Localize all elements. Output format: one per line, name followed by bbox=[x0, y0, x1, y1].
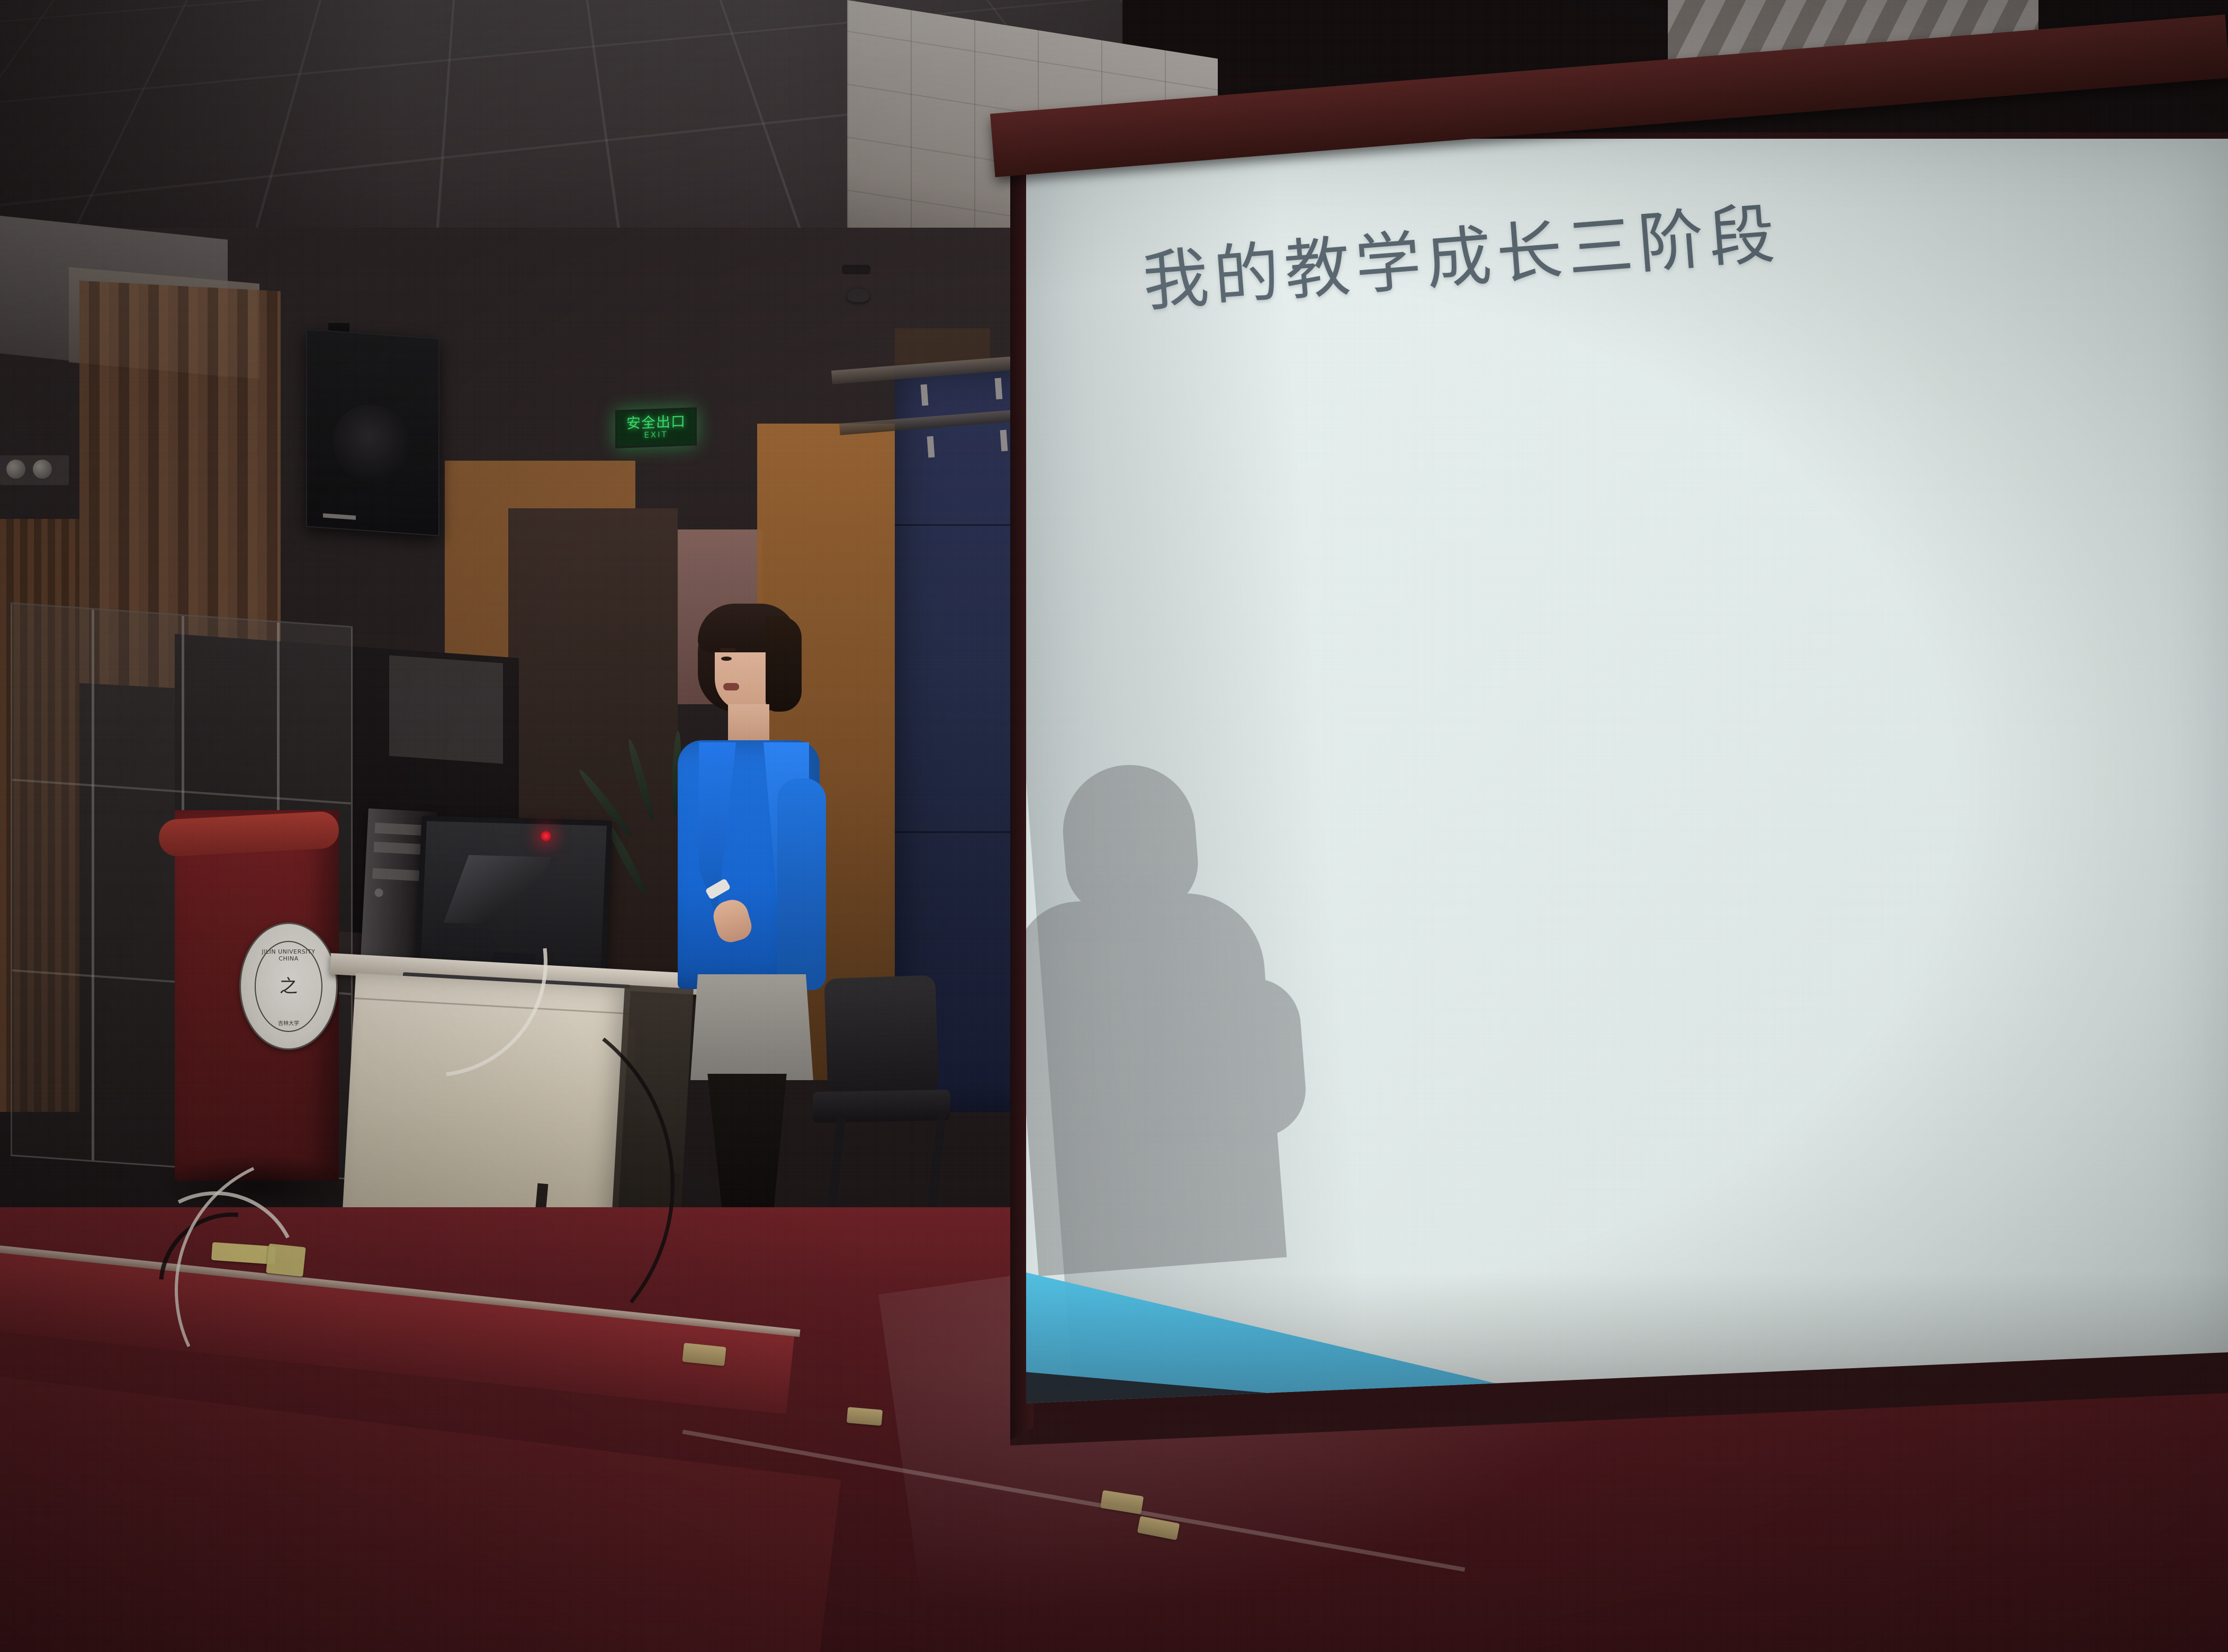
cabinet-mullion-1 bbox=[92, 609, 94, 1160]
tower-drive-bay-1 bbox=[375, 823, 424, 836]
chair-backrest[interactable] bbox=[824, 975, 939, 1095]
exit-sign: 安全出口 EXIT bbox=[615, 407, 697, 448]
emergency-lamp-left-icon bbox=[6, 460, 25, 479]
dome-sensor-icon bbox=[847, 289, 869, 302]
emergency-lamp-right-icon bbox=[33, 460, 52, 479]
power-indicator-led-icon bbox=[540, 830, 552, 842]
exit-sign-english: EXIT bbox=[644, 429, 668, 441]
presenter-eye bbox=[721, 657, 732, 661]
seal-ring: JILIN UNIVERSITY CHINA 之 吉林大学 bbox=[255, 941, 322, 1032]
projection-screen: 我的教学成长三阶段 bbox=[1026, 139, 2228, 1409]
speaker-cone-icon bbox=[333, 402, 412, 487]
seal-inner-text: 吉林大学 bbox=[256, 1019, 321, 1027]
speaker-brand-badge bbox=[323, 513, 356, 519]
presenter-skirt bbox=[690, 974, 813, 1080]
wall-speaker bbox=[306, 329, 439, 536]
presenter-mouth bbox=[723, 683, 739, 690]
emergency-light-fixture bbox=[0, 455, 69, 485]
lecture-hall-photo: 安全出口 EXIT JILIN UNIVERSITY CHINA 之 吉林大学 bbox=[0, 0, 2228, 1652]
exit-sign-chinese: 安全出口 bbox=[626, 415, 686, 431]
chair-seat[interactable] bbox=[813, 1090, 951, 1123]
floor-patch-2 bbox=[847, 1407, 883, 1426]
presenter-hair-side bbox=[766, 616, 802, 712]
presenter-shadow-arm bbox=[1186, 975, 1309, 1142]
posted-notice-paper bbox=[389, 655, 503, 764]
ceiling-sensor-housing bbox=[842, 265, 870, 274]
presenter-arm bbox=[777, 778, 826, 990]
seal-outer-text: JILIN UNIVERSITY CHINA bbox=[256, 948, 321, 962]
presenter-eyebrow bbox=[720, 648, 736, 651]
seal-glyph-icon: 之 bbox=[280, 977, 298, 995]
